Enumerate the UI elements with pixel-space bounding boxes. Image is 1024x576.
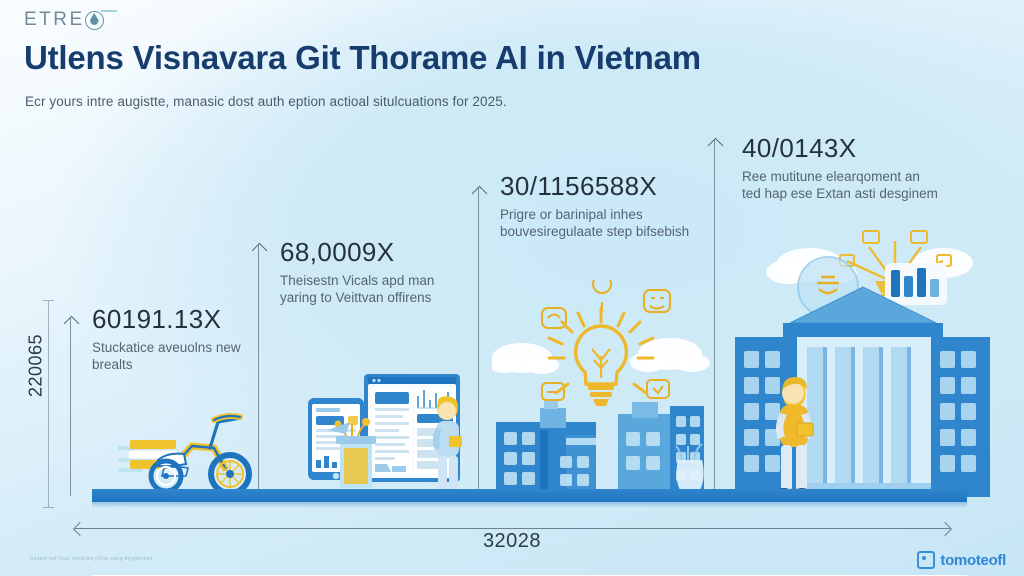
brand-name: ETRE [24, 9, 85, 31]
lightbulb-city-icon [492, 280, 710, 495]
stat-value: 60191.13X [92, 305, 242, 334]
footer-note: Snapst bel l'pau jmnts'we jl'Pan pacg th… [30, 556, 153, 562]
page-subtitle: Ecr yours intre augistte, manasic dost a… [25, 94, 885, 109]
footer-logo: tomoteofl [917, 551, 1006, 569]
square-dot-icon [917, 551, 935, 569]
delivery-motorbike-icon [118, 404, 268, 496]
arrow-head-icon [707, 138, 723, 154]
baseline-shadow [92, 502, 967, 508]
page-title: Utlens Visnavara Git Thorame AI in Vietn… [24, 40, 924, 76]
riser-step-3 [478, 188, 479, 496]
brand-logo: ETRE [24, 8, 109, 32]
stat-description: Prigre or barinipal inhes bouvesiregulaa… [500, 206, 690, 241]
riser-step-4 [714, 140, 715, 496]
stat-value: 30/1156588X [500, 172, 690, 201]
stat-block-step-3: 30/1156588X Prigre or barinipal inhes bo… [500, 172, 690, 240]
arrow-head-icon [471, 186, 487, 202]
y-axis-label: 220065 [26, 316, 47, 416]
arrow-head-icon [251, 243, 267, 259]
arrow-head-icon [63, 316, 79, 332]
footer-logo-text: tomoteofl [940, 552, 1006, 569]
stat-block-step-1: 60191.13X Stuckatice aveuolns new brealt… [92, 305, 242, 373]
stat-description: Ree mutitune elearqoment an ted hap ese … [742, 168, 942, 203]
y-axis-line [48, 300, 49, 508]
x-axis-arrow [75, 528, 950, 529]
infographic-canvas: ETRE Utlens Visnavara Git Thorame AI in … [0, 0, 1024, 576]
droplet-ring-icon [83, 8, 109, 32]
tablet-dashboard-icon [268, 368, 463, 498]
riser-step-1 [70, 318, 71, 496]
stat-value: 68,0009X [280, 238, 455, 267]
stat-block-step-4: 40/0143X Ree mutitune elearqoment an ted… [742, 134, 942, 202]
x-axis-label: 32028 [0, 530, 1024, 553]
stat-description: Stuckatice aveuolns new brealts [92, 339, 242, 374]
baseline-bar [92, 489, 967, 502]
stat-block-step-2: 68,0009X Theisestn Vicals apd man yaring… [280, 238, 455, 306]
stat-value: 40/0143X [742, 134, 942, 163]
government-bank-icon [735, 225, 990, 497]
stat-description: Theisestn Vicals apd man yaring to Veitt… [280, 272, 455, 307]
